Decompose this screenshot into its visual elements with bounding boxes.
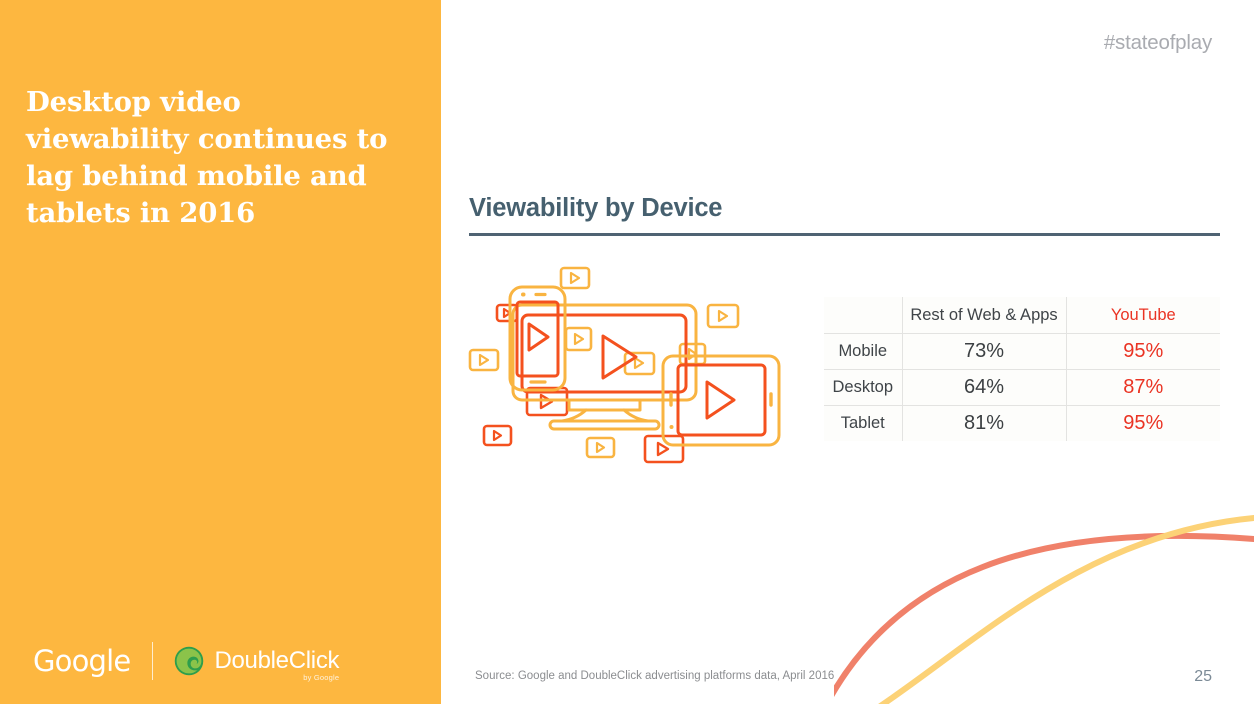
row-label-desktop: Desktop: [824, 370, 902, 406]
doubleclick-swirl-icon: [174, 646, 204, 676]
row-label-tablet: Tablet: [824, 406, 902, 442]
section-divider-rule: [469, 233, 1220, 236]
brand-divider: [152, 642, 153, 680]
table-header-row: Rest of Web & Apps YouTube: [824, 297, 1220, 334]
devices-illustration: [466, 258, 796, 480]
section-heading: Viewability by Device: [469, 194, 722, 223]
cell-tablet-youtube: 95%: [1066, 406, 1220, 442]
source-note: Source: Google and DoubleClick advertisi…: [475, 670, 834, 682]
cell-mobile-youtube: 95%: [1066, 334, 1220, 370]
left-title-panel: Desktop video viewability continues to l…: [0, 0, 441, 704]
table-row: Mobile 73% 95%: [824, 334, 1220, 370]
table-corner-cell: [824, 297, 902, 334]
table-row: Desktop 64% 87%: [824, 370, 1220, 406]
cell-tablet-rest: 81%: [902, 406, 1066, 442]
doubleclick-lockup: DoubleClick by Google: [174, 646, 339, 676]
slide-canvas: Desktop video viewability continues to l…: [0, 0, 1254, 704]
cell-desktop-rest: 64%: [902, 370, 1066, 406]
slide-title: Desktop video viewability continues to l…: [26, 84, 406, 232]
table-row: Tablet 81% 95%: [824, 406, 1220, 442]
viewability-table: Rest of Web & Apps YouTube Mobile 73% 95…: [824, 297, 1220, 441]
decorative-curves: [834, 494, 1254, 704]
page-number: 25: [1194, 668, 1212, 686]
brand-lockup: Google DoubleClick by Google: [33, 638, 339, 684]
doubleclick-word-block: DoubleClick by Google: [214, 649, 339, 673]
table-header-youtube: YouTube: [1066, 297, 1220, 334]
hashtag-label: #stateofplay: [1104, 31, 1212, 55]
cell-desktop-youtube: 87%: [1066, 370, 1220, 406]
google-wordmark: Google: [33, 647, 130, 676]
doubleclick-wordmark: DoubleClick: [214, 647, 339, 674]
cell-mobile-rest: 73%: [902, 334, 1066, 370]
table-header-rest-of-web: Rest of Web & Apps: [902, 297, 1066, 334]
doubleclick-byline: by Google: [303, 674, 339, 682]
row-label-mobile: Mobile: [824, 334, 902, 370]
